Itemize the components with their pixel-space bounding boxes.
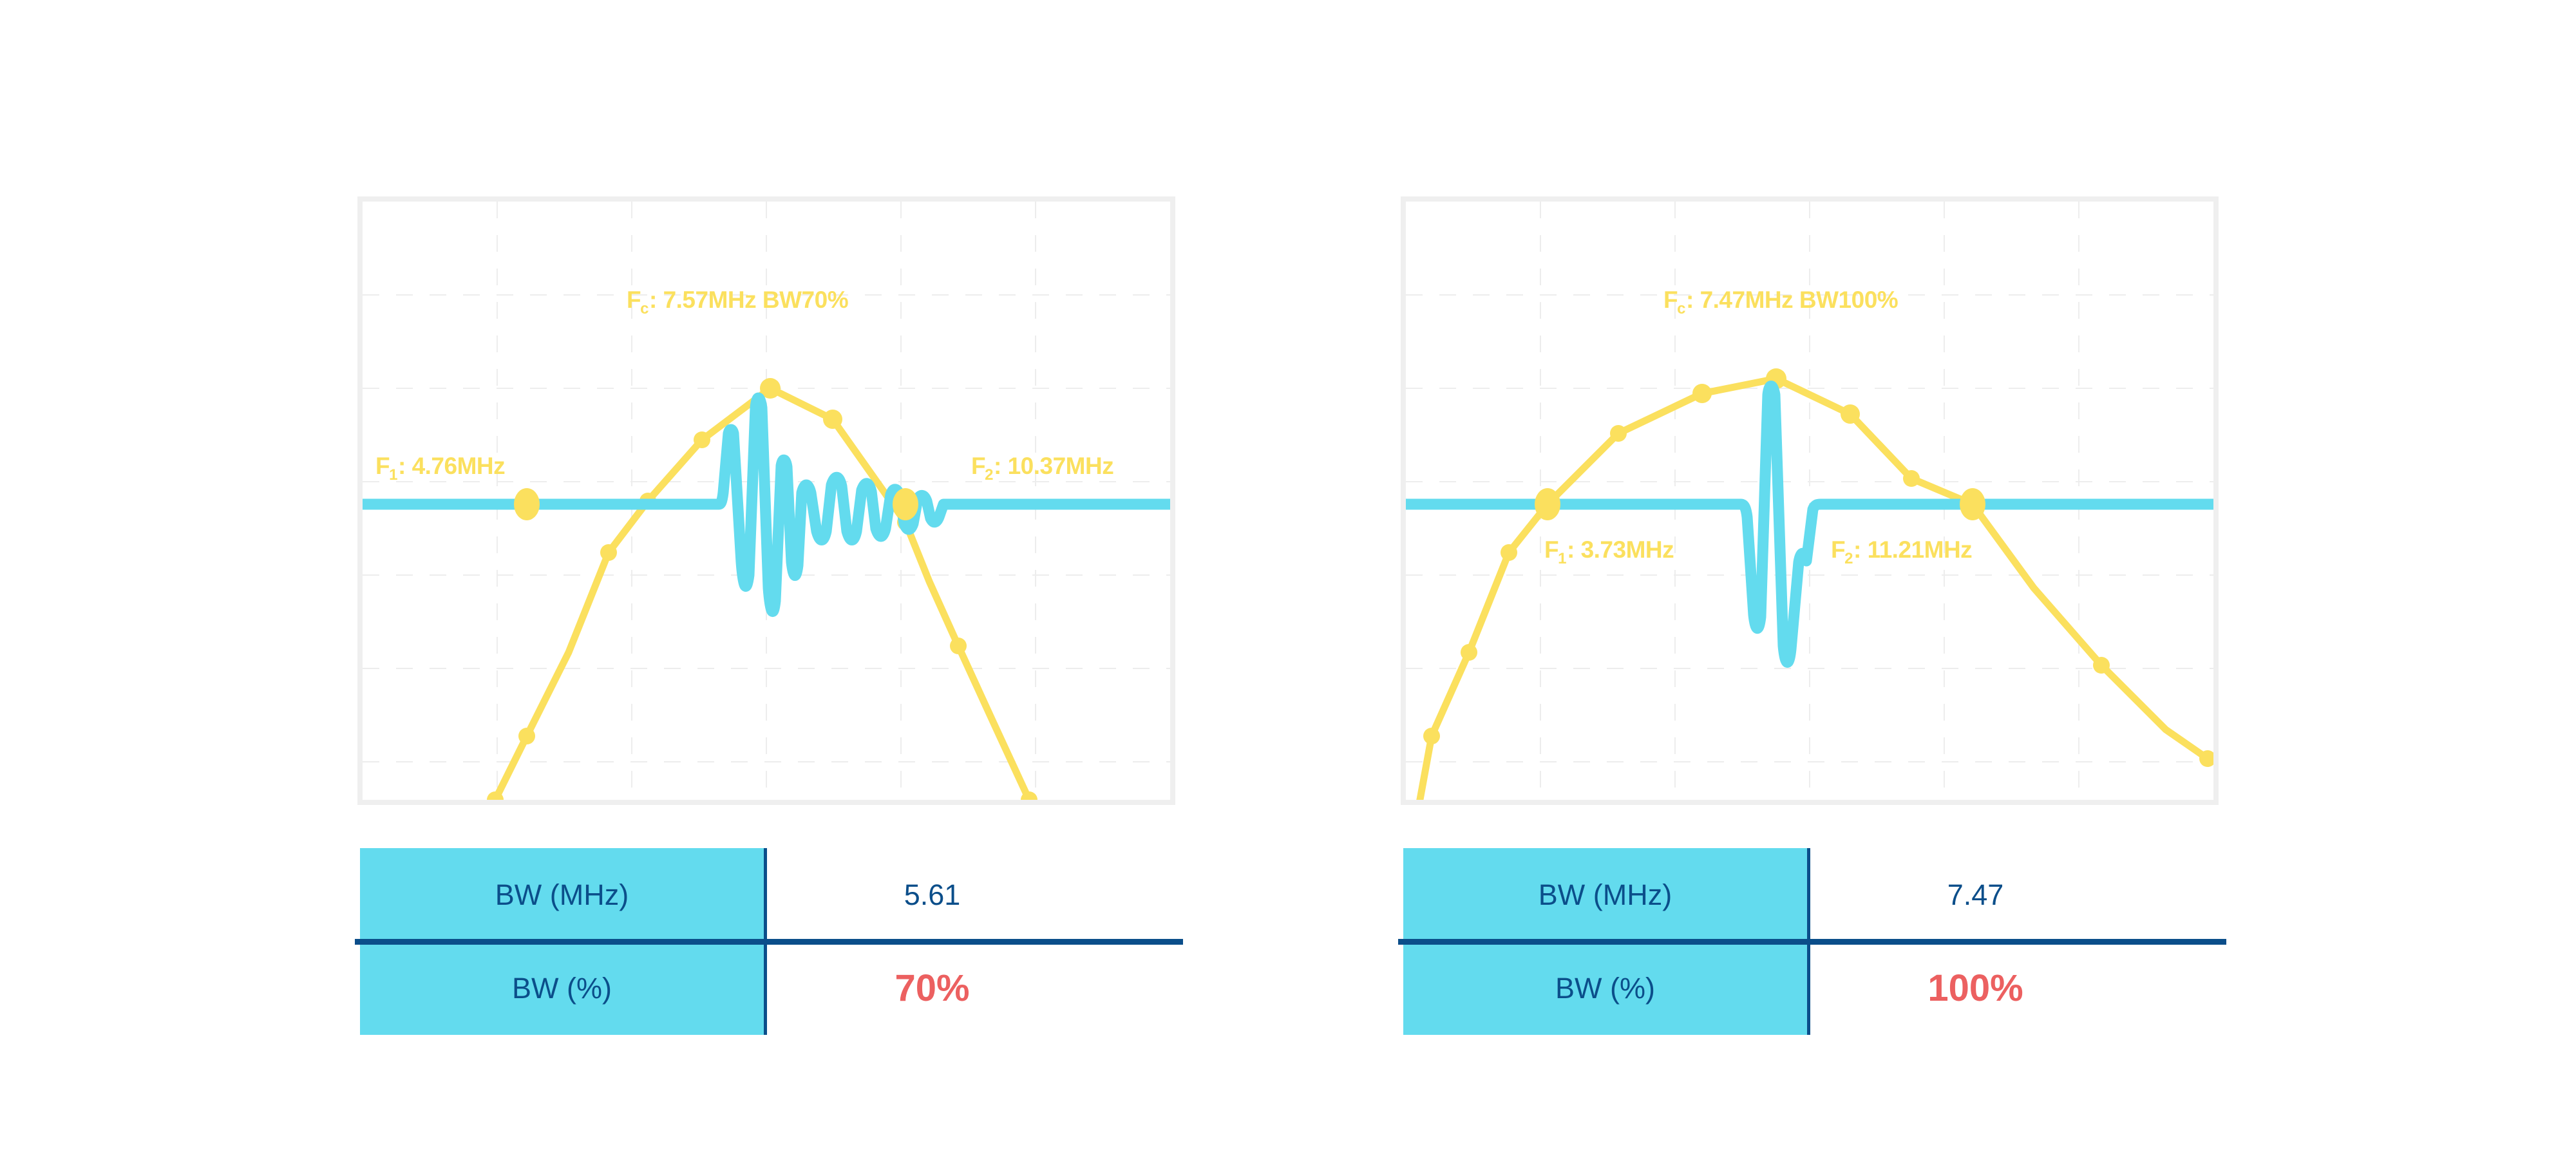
chart-plot-bw100: Fc: 7.47MHz BW100% F1: 3.73MHz F2: 11.21… [1406, 202, 2213, 800]
bw-pct-value: 70% [895, 967, 969, 1010]
table-row: BW (MHz) 7.47 [1403, 848, 2221, 941]
bw-mhz-value-cell: 5.61 [764, 848, 1178, 941]
bw-pct-value: 100% [1927, 967, 2023, 1010]
chart-frame-bw70: Fc: 7.57MHz BW70% F1: 4.76MHz F2: 10.37M… [357, 196, 1175, 805]
spectrum-markers [1423, 368, 2213, 767]
annot-subscript: c [1677, 300, 1685, 317]
marker-f2 [1960, 488, 1985, 520]
bw-pct-label: BW (%) [1555, 972, 1655, 1005]
annotation-f2-bw70: F2: 10.37MHz [971, 453, 1113, 480]
bw-pct-value-cell: 100% [1807, 941, 2221, 1035]
bw-mhz-value: 7.47 [1947, 878, 2004, 912]
table-row-divider [1398, 939, 2226, 945]
annot-text: : 3.73MHz [1567, 536, 1674, 563]
bw-table-bw70: BW (MHz) 5.61 BW (%) 70% [360, 848, 1178, 1048]
table-row-divider [355, 939, 1183, 945]
bw-mhz-value: 5.61 [904, 878, 961, 912]
annotation-f2-bw100: F2: 11.21MHz [1831, 536, 1972, 563]
pulse-waveform [363, 398, 1170, 612]
bw-mhz-value-cell: 7.47 [1807, 848, 2221, 941]
annot-subscript: 1 [389, 466, 397, 484]
annot-subscript: c [640, 300, 649, 317]
annot-text: : 10.37MHz [994, 453, 1113, 479]
figure-root: Fc: 7.57MHz BW70% F1: 4.76MHz F2: 10.37M… [0, 0, 2576, 1154]
annot-text: : 7.47MHz BW100% [1686, 287, 1898, 313]
annot-prefix: F [1663, 287, 1678, 313]
annot-subscript: 2 [985, 466, 993, 484]
bw-mhz-label: BW (MHz) [495, 878, 629, 912]
panel-bw70: Fc: 7.57MHz BW70% F1: 4.76MHz F2: 10.37M… [348, 0, 1217, 1154]
annot-prefix: F [1544, 536, 1558, 563]
table-row: BW (%) 70% [360, 941, 1178, 1035]
table-row: BW (MHz) 5.61 [360, 848, 1178, 941]
annotation-f1-bw100: F1: 3.73MHz [1544, 536, 1674, 563]
bw-pct-label: BW (%) [512, 972, 612, 1005]
annot-prefix: F [375, 453, 390, 479]
annot-prefix: F [1831, 536, 1845, 563]
marker-f1 [514, 488, 540, 520]
chart-frame-bw100: Fc: 7.47MHz BW100% F1: 3.73MHz F2: 11.21… [1401, 196, 2219, 805]
bw-mhz-label: BW (MHz) [1539, 878, 1672, 912]
annot-prefix: F [971, 453, 985, 479]
bw-table-bw100: BW (MHz) 7.47 BW (%) 100% [1403, 848, 2221, 1048]
bw-mhz-label-cell: BW (MHz) [1403, 848, 1807, 941]
annot-text: : 4.76MHz [398, 453, 505, 479]
annot-subscript: 2 [1844, 550, 1853, 567]
annot-prefix: F [627, 287, 641, 313]
bw-pct-value-cell: 70% [764, 941, 1178, 1035]
marker-f2 [893, 488, 918, 520]
annotation-center-frequency-bw100: Fc: 7.47MHz BW100% [1663, 287, 1898, 314]
pulse-waveform [1406, 386, 2213, 663]
panel-bw100: Fc: 7.47MHz BW100% F1: 3.73MHz F2: 11.21… [1391, 0, 2260, 1154]
annot-text: : 11.21MHz [1853, 536, 1972, 563]
bw-mhz-label-cell: BW (MHz) [360, 848, 764, 941]
table-row: BW (%) 100% [1403, 941, 2221, 1035]
annotation-f1-bw70: F1: 4.76MHz [375, 453, 505, 480]
annot-subscript: 1 [1558, 550, 1566, 567]
bw-pct-label-cell: BW (%) [360, 941, 764, 1035]
bw-pct-label-cell: BW (%) [1403, 941, 1807, 1035]
annotation-center-frequency-bw70: Fc: 7.57MHz BW70% [627, 287, 848, 314]
marker-f1 [1535, 488, 1560, 520]
chart-plot-bw70: Fc: 7.57MHz BW70% F1: 4.76MHz F2: 10.37M… [363, 202, 1170, 800]
annot-text: : 7.57MHz BW70% [649, 287, 848, 313]
